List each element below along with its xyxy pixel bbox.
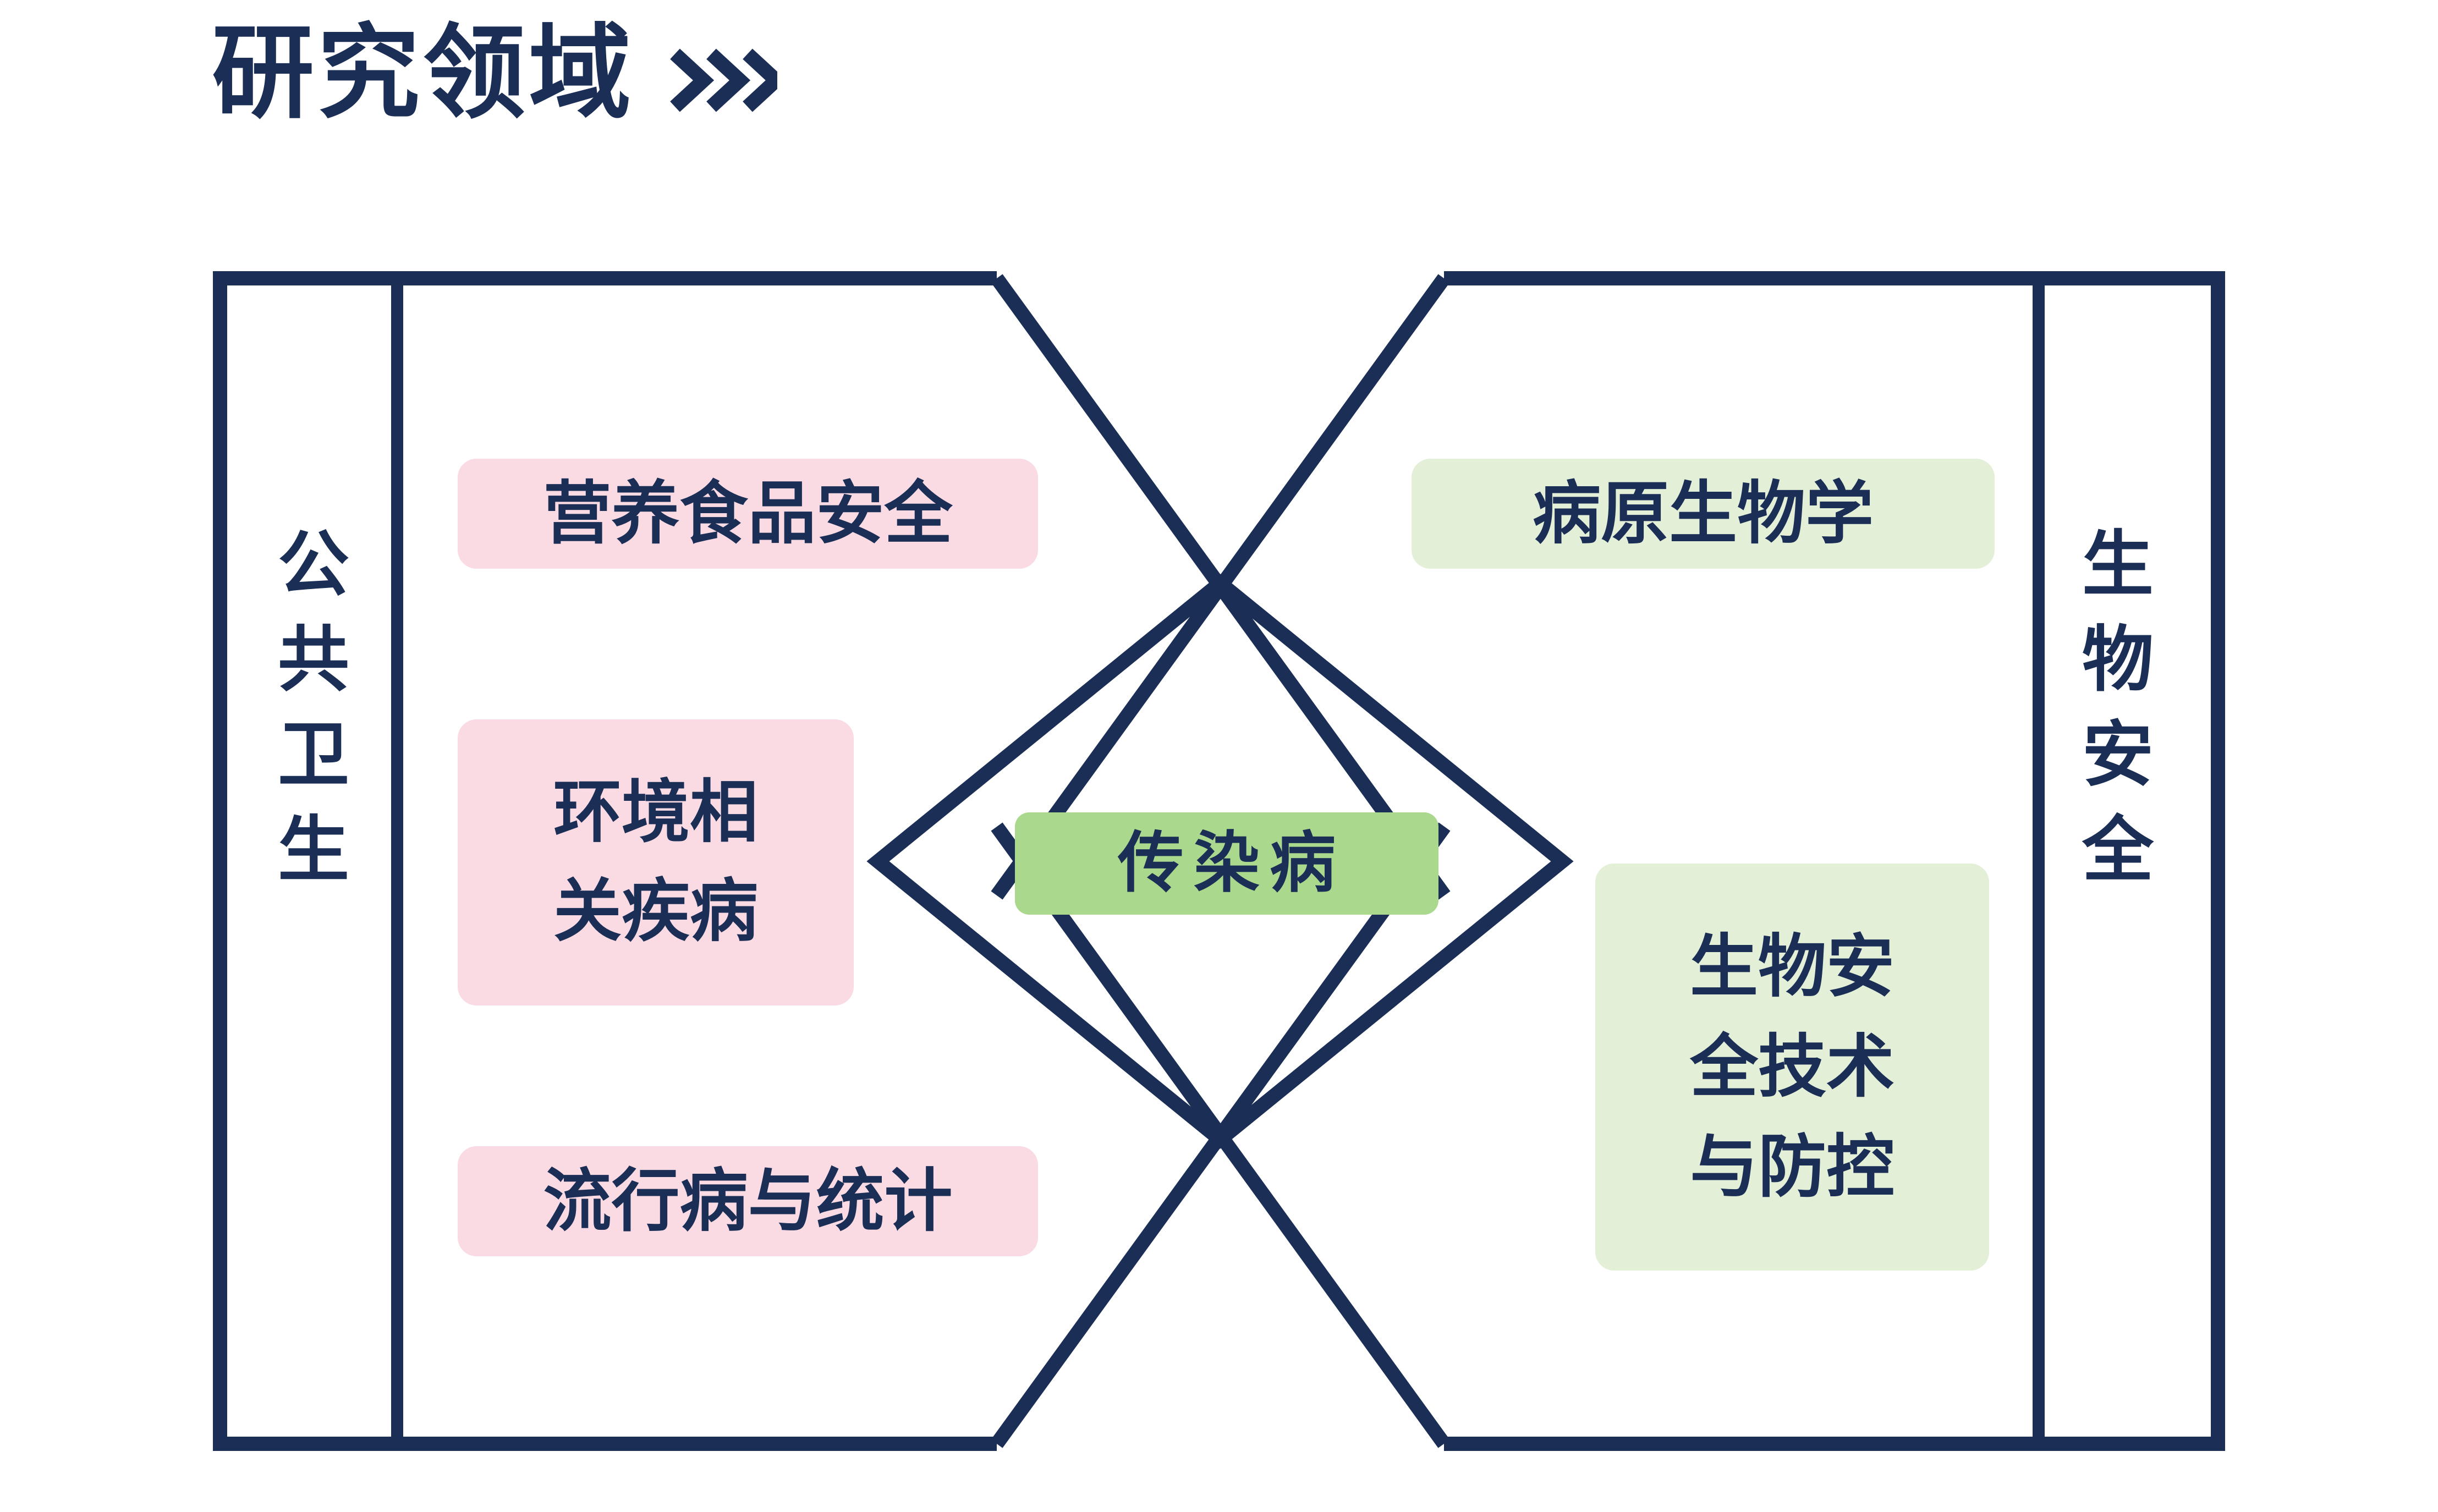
topic-chip-pathogen-biology[interactable]: 病原生物学 bbox=[1412, 459, 1995, 569]
chip-line: 流行病与统计 bbox=[543, 1167, 952, 1235]
topic-chip-biosafety-technology-prevention[interactable]: 生物安 全技术 与防控 bbox=[1595, 864, 1989, 1271]
side-label-char: 全 bbox=[2082, 802, 2154, 898]
side-label-char: 安 bbox=[2082, 707, 2154, 802]
sidebar-label-biosafety: 生 物 安 全 bbox=[2035, 517, 2200, 898]
topic-chip-epidemiology-statistics[interactable]: 流行病与统计 bbox=[458, 1146, 1038, 1256]
side-label-char: 卫 bbox=[278, 707, 349, 802]
chip-line: 环境相 bbox=[553, 763, 758, 862]
page-title-row: 研究领域 bbox=[212, 22, 777, 124]
topic-chip-infectious-diseases[interactable]: 传染病 bbox=[1015, 812, 1438, 915]
side-label-char: 物 bbox=[2082, 612, 2154, 707]
chip-line: 营养食品安全 bbox=[543, 480, 952, 548]
topic-chip-nutrition-food-safety[interactable]: 营养食品安全 bbox=[458, 459, 1038, 569]
sidebar-label-public-health: 公 共 卫 生 bbox=[231, 517, 396, 898]
chip-line: 与防控 bbox=[1690, 1117, 1895, 1217]
side-label-char: 共 bbox=[278, 612, 349, 707]
chip-line: 生物安 bbox=[1690, 917, 1895, 1017]
side-label-char: 公 bbox=[278, 517, 349, 612]
chip-line: 全技术 bbox=[1690, 1017, 1895, 1117]
chip-line: 关疾病 bbox=[553, 862, 758, 961]
side-label-char: 生 bbox=[2082, 517, 2154, 612]
page-title: 研究领域 bbox=[212, 22, 634, 124]
chip-line: 病原生物学 bbox=[1533, 480, 1874, 548]
chip-line: 传染病 bbox=[1108, 831, 1346, 897]
research-areas-diagram: 研究领域 公 共 卫 生 生 物 安 全 营养食品安全 环境相 关疾病 bbox=[0, 0, 2438, 1512]
chevron-right-triple-icon bbox=[667, 47, 777, 113]
topic-chip-environment-related-diseases[interactable]: 环境相 关疾病 bbox=[458, 719, 854, 1005]
side-label-char: 生 bbox=[278, 802, 349, 898]
